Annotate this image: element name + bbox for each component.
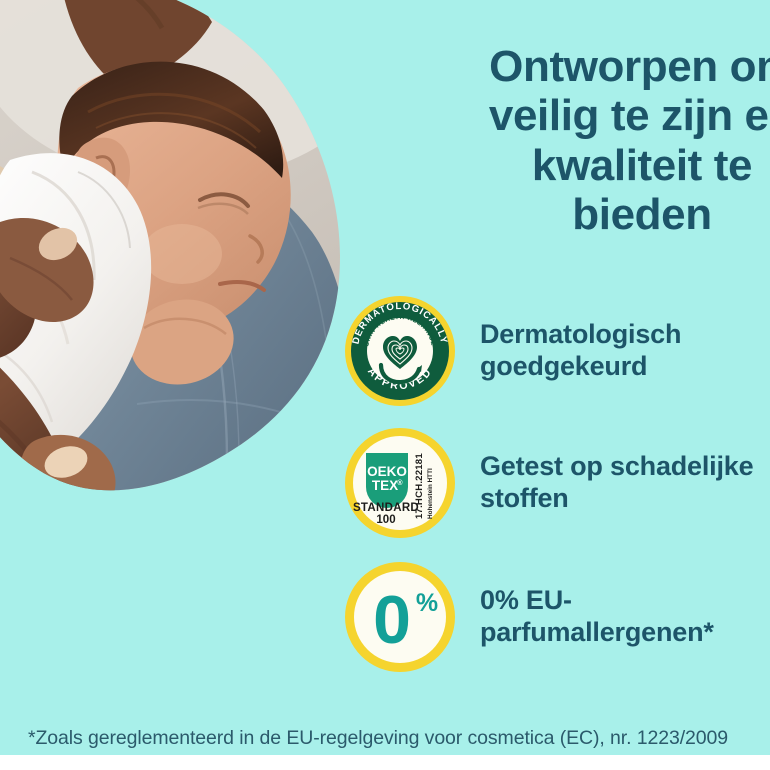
zero-percent-value: 0: [373, 582, 411, 658]
oeko-registered-mark: ®: [397, 479, 403, 487]
headline-line-3: kwaliteit te: [432, 141, 770, 190]
claim-1-line-1: Dermatologisch: [480, 319, 681, 351]
zero-percent-unit: %: [416, 589, 438, 617]
claim-row-dermatologisch: DERMATOLOGICALLY APPROVED SKIN HEALTH AL…: [336, 286, 770, 416]
dermatologically-approved-badge: DERMATOLOGICALLY APPROVED SKIN HEALTH AL…: [344, 295, 456, 407]
headline-line-1: Ontworpen om: [432, 42, 770, 91]
claim-row-eu-parfumallergenen: 0 % 0% EU- parfumallergenen*: [336, 552, 770, 682]
footnote: *Zoals gereglementeerd in de EU-regelgev…: [28, 727, 728, 750]
claim-text-schadelijke-stoffen: Getest op schadelijke stoffen: [480, 451, 753, 515]
page-title: Ontworpen om veilig te zijn en kwaliteit…: [432, 42, 770, 239]
promotional-banner: Ontworpen om veilig te zijn en kwaliteit…: [0, 0, 770, 770]
oeko-standard-number: 100: [376, 514, 395, 526]
oeko-certificate-number: 17.HCH.22181: [414, 453, 425, 519]
oeko-brand-line-1: OEKO: [367, 464, 407, 479]
claim-3-line-1: 0% EU-: [480, 585, 714, 617]
claim-2-line-1: Getest op schadelijke: [480, 451, 753, 483]
claim-row-schadelijke-stoffen: OEKO TEX ® STANDARD 100 17.HCH.22181 Hoh…: [336, 418, 770, 548]
claim-1-line-2: goedgekeurd: [480, 351, 681, 383]
oeko-brand-line-2: TEX: [372, 478, 398, 493]
zero-percent-badge: 0 %: [344, 561, 456, 673]
claim-3-line-2: parfumallergenen*: [480, 617, 714, 649]
baby-sleeping-on-parent-shoulder-photo: [0, 0, 352, 532]
bottom-white-strip: [0, 755, 770, 770]
headline-line-2: veilig te zijn en: [432, 91, 770, 140]
claim-text-eu-parfumallergenen: 0% EU- parfumallergenen*: [480, 585, 714, 649]
headline-line-4: bieden: [432, 190, 770, 239]
oeko-tex-standard-100-badge: OEKO TEX ® STANDARD 100 17.HCH.22181 Hoh…: [344, 427, 456, 539]
oeko-standard-label: STANDARD: [353, 502, 419, 514]
oeko-institute: Hohenstein HTTI: [427, 468, 434, 519]
claim-2-line-2: stoffen: [480, 483, 753, 515]
claim-text-dermatologisch: Dermatologisch goedgekeurd: [480, 319, 681, 383]
claims-list: DERMATOLOGICALLY APPROVED SKIN HEALTH AL…: [336, 286, 770, 682]
